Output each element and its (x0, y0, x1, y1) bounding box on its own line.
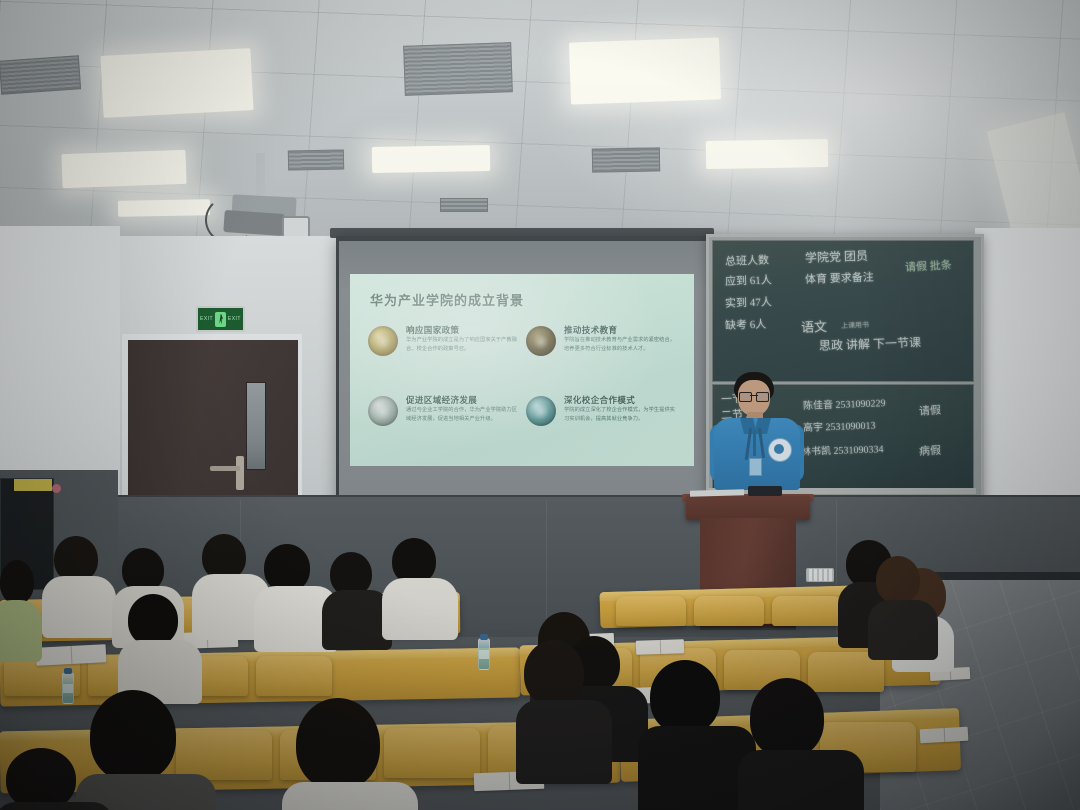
student-head (650, 660, 720, 734)
student-torso (42, 576, 116, 638)
exit-sign-label-left: EXIT (198, 317, 215, 322)
ceiling-light-panel (706, 139, 828, 169)
open-notebook (636, 639, 684, 655)
student-head (0, 560, 34, 604)
notice-board-marker (52, 484, 61, 493)
slide-bullet-item: 推动技术教育 学院旨在推动技术教育与产业需求的紧密结合，培养更多符合行业标准的技… (526, 322, 678, 384)
lecture-hall-photo: EXIT EXIT 华为产业学院的成立背景 响应国家政策 华为产业学院的成立是为… (0, 0, 1080, 810)
seat-back (772, 596, 842, 626)
slide-bullet-item: 响应国家政策 华为产业学院的成立是为了响应国家关于产教融合、校企合作的政策号召。 (368, 322, 520, 384)
slide-item-body: 华为产业学院的成立是为了响应国家关于产教融合、校企合作的政策号召。 (406, 336, 518, 353)
globe-network-icon (526, 396, 556, 426)
door-push-bar[interactable] (210, 466, 240, 471)
slide-item-body: 学院的成立深化了校企合作模式，为学生提供实习实训机会，提高其就业竞争力。 (564, 406, 676, 423)
ceiling-light-panel (372, 145, 490, 173)
blackboard-upper-panel: 总班人数 学院党 团员 请假 批条 应到 61人 体育 要求备注 实到 47人 … (712, 240, 974, 382)
projector-body (223, 210, 284, 236)
student-head (524, 640, 584, 706)
student-head (90, 690, 176, 782)
chalk-line: 学院党 团员 (805, 247, 869, 266)
projection-screen: 华为产业学院的成立背景 响应国家政策 华为产业学院的成立是为了响应国家关于产教融… (336, 236, 712, 502)
student-head (296, 698, 380, 790)
student-head (6, 748, 76, 810)
student-torso (0, 802, 114, 810)
exit-sign-label-right: EXIT (226, 317, 243, 322)
student-torso (0, 600, 42, 662)
chalk-line: 上课用书 (841, 320, 869, 331)
ceiling-light-panel (61, 150, 186, 188)
running-man-icon (215, 312, 226, 327)
wall-outlet[interactable] (806, 568, 834, 582)
slide-title: 华为产业学院的成立背景 (370, 290, 524, 309)
student-torso (868, 600, 938, 660)
slide-content-grid: 响应国家政策 华为产业学院的成立是为了响应国家关于产教融合、校企合作的政策号召。… (368, 322, 678, 454)
chalk-line: 请假 批条 (905, 257, 953, 275)
chalk-line: 总班人数 (725, 251, 770, 269)
wainscot-seam (546, 500, 547, 635)
seat-back (616, 596, 686, 626)
student-head (128, 594, 178, 646)
seat-back (694, 596, 764, 626)
ceiling-light-panel (118, 199, 210, 217)
ceiling-vent (440, 198, 488, 212)
presentation-slide: 华为产业学院的成立背景 响应国家政策 华为产业学院的成立是为了响应国家关于产教融… (350, 274, 694, 466)
chalk-line: 缺考 6人 (725, 316, 767, 333)
open-notebook (36, 644, 107, 666)
chalk-line: 病假 (919, 442, 942, 459)
slide-item-body: 通过与企业工学院的合作，华为产业学院助力区域经济发展，促进当地相关产业升级。 (406, 406, 518, 423)
seat-back (256, 656, 332, 696)
water-bottle (62, 672, 74, 704)
chalk-line: 思政 讲解 下一节课 (819, 333, 922, 354)
id-badge-card (749, 458, 762, 476)
slide-bullet-item: 深化校企合作模式 学院的成立深化了校企合作模式，为学生提供实习实训机会，提高其就… (526, 392, 678, 454)
student-torso (382, 578, 458, 640)
slide-item-heading: 推动技术教育 (564, 324, 617, 336)
slide-item-body: 学院旨在推动技术教育与产业需求的紧密结合，培养更多符合行业标准的技术人才。 (564, 336, 676, 353)
student-torso (282, 782, 418, 810)
glasses-icon (739, 392, 769, 400)
chalk-line: 应到 61人 (725, 271, 772, 289)
presenter-shirt-placket (753, 430, 756, 456)
student-head (876, 556, 920, 604)
projector-mount-pole (256, 153, 265, 201)
chalk-line: 请假 (918, 401, 941, 418)
chalk-line: 陈佳音 2531090229 (803, 394, 886, 412)
medal-emblem-icon (368, 326, 398, 356)
seat-back (384, 728, 480, 778)
university-crest-icon (768, 438, 792, 462)
notice-board-header (14, 479, 52, 491)
chalk-line: 体育 要求备注 (805, 269, 874, 287)
chalk-line: 高宇 2531090013 (803, 416, 876, 434)
slide-item-heading: 深化校企合作模式 (564, 394, 635, 406)
student-head (264, 544, 310, 592)
emergency-exit-sign: EXIT EXIT (196, 306, 245, 332)
chalk-line: 实到 47人 (725, 293, 772, 311)
ceiling-vent (0, 55, 81, 94)
water-bottle (478, 638, 490, 670)
seat-back (176, 730, 272, 780)
open-book-icon (526, 326, 556, 356)
ceiling-vent (592, 147, 660, 172)
door-vision-panel (246, 382, 266, 470)
chalk-line: 林书凯 2531090334 (801, 440, 884, 458)
student-head (750, 678, 824, 758)
slide-item-heading: 响应国家政策 (406, 324, 459, 336)
open-notebook (920, 727, 969, 743)
student-torso (738, 750, 864, 810)
ceiling-light-panel (569, 37, 721, 104)
ceiling-vent (288, 150, 344, 171)
door-handle[interactable] (236, 456, 244, 490)
podium-top (686, 496, 810, 520)
student-torso (516, 700, 612, 784)
slide-item-heading: 促进区域经济发展 (406, 394, 477, 406)
chalk-line: 语文 (801, 316, 828, 336)
ceiling-vent (403, 42, 513, 96)
slide-bullet-item: 促进区域经济发展 通过与企业工学院的合作，华为产业学院助力区域经济发展，促进当地… (368, 392, 520, 454)
podium-device (748, 486, 782, 496)
ceiling-light-panel (100, 48, 253, 118)
laurel-seal-icon (368, 396, 398, 426)
